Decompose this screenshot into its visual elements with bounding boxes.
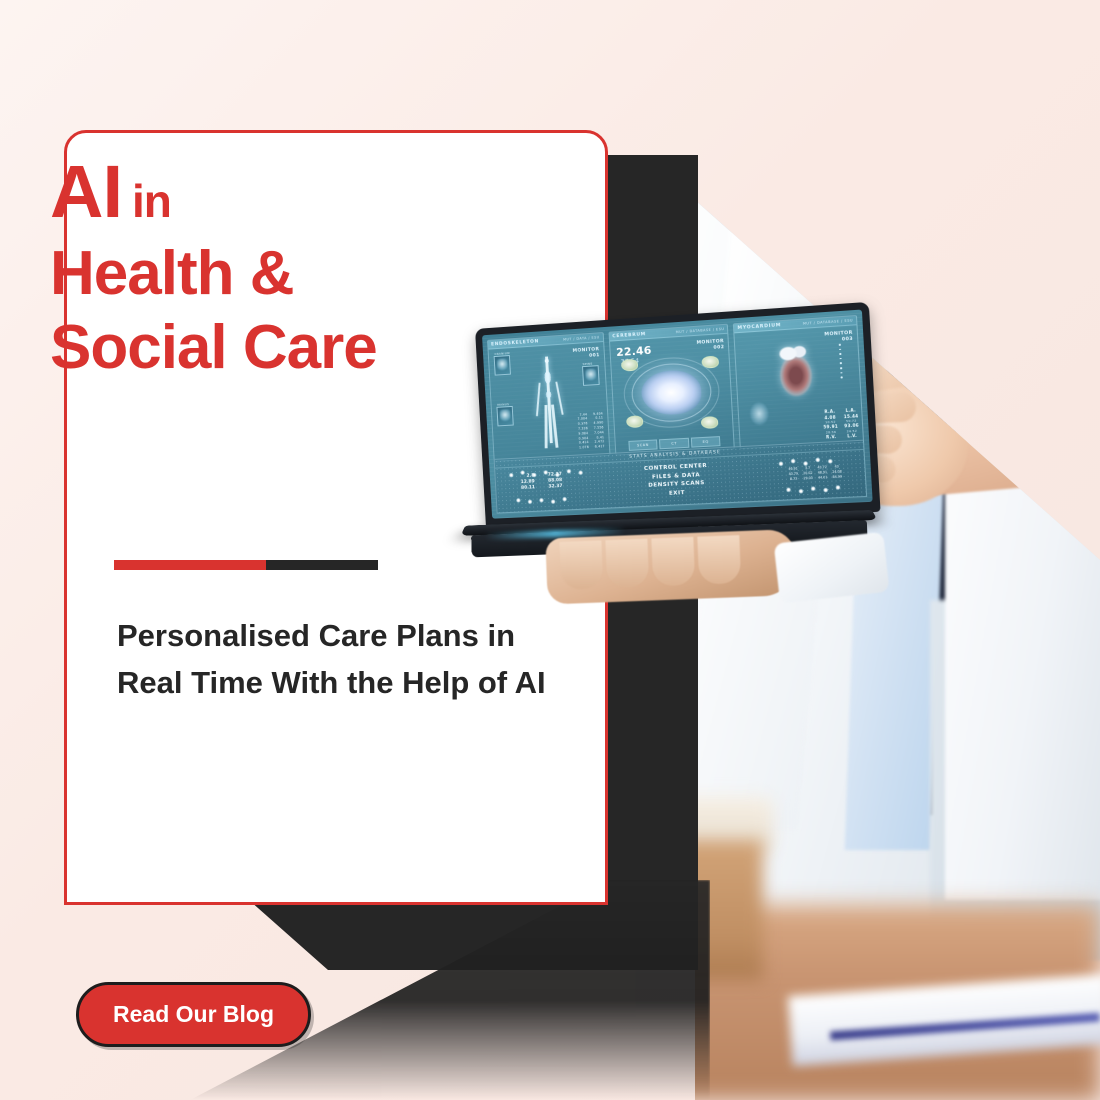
accent-divider [114,560,378,570]
headline-ai: AI [50,150,122,233]
panel-endoskeleton[interactable]: ENDOSKELETON MUT / DATA / ESU MONITOR 00… [487,332,610,462]
eq-button[interactable]: EQ [691,436,721,448]
scan-button[interactable]: SCAN [628,439,658,450]
read-our-blog-button[interactable]: Read Our Blog [76,982,311,1047]
screen-panel-row: ENDOSKELETON MUT / DATA / ESU MONITOR 00… [487,315,864,462]
holding-finger-3 [651,537,695,587]
headline-line-2: Health & [50,243,377,305]
brain-sample-2-icon [702,356,720,369]
headline-line-3: Social Care [50,317,377,379]
divider-red-segment [114,560,266,570]
panel-endoskeleton-stats: 7.449.404 7.0040.11 0.3764.990 7.3367.55… [577,411,605,450]
headline-in: in [132,175,171,227]
holding-finger-1 [559,540,603,590]
skull-icon [497,358,508,372]
panel-endoskeleton-subtitle: MUT / DATA / ESU [563,335,600,341]
lab-coat-cuff [774,532,890,604]
holding-finger-4 [697,535,741,585]
holding-finger-2 [605,539,649,589]
brain-sample-4-icon [701,416,719,429]
strip-menu: CONTROL CENTER FILES & DATA DENSITY SCAN… [644,462,709,500]
panel-cerebrum-title: CEREBRUM [612,332,646,339]
spine-icon [585,368,596,383]
hand-bones-icon [499,409,510,423]
myocardium-dot-scale [839,344,843,379]
heart-chamber-stats: R.A.L.A. 4.0815.44 10.5250.72 59.9193.06… [822,408,859,440]
panel-cerebrum[interactable]: CEREBRUM MUT / DATABASE / ESU 22.46 37.5… [608,324,735,456]
laptop-device: ENDOSKELETON MUT / DATA / ESU MONITOR 00… [447,308,877,594]
strip-left-numbers: 2.872.37 12.8988.08 80.1132.37 [520,472,562,491]
divider-dark-segment [266,560,378,570]
laptop-lid: ENDOSKELETON MUT / DATA / ESU MONITOR 00… [475,302,881,529]
panel-cerebrum-monitor: MONITOR 002 [696,339,724,352]
panel-cerebrum-subtitle: MUT / DATABASE / ESU [676,327,725,334]
laptop-screen: ENDOSKELETON MUT / DATA / ESU MONITOR 00… [482,310,873,519]
skeleton-legs-icon [537,404,565,451]
brain-sample-3-icon [626,415,643,428]
page-title: AIin Health & Social Care [50,155,377,379]
strip-right-numbers: 46.913.7 43.7243 40.7920.02 48.9124.08 8… [788,464,842,481]
panel-myocardium[interactable]: MYOCARDIUM MUT / DATABASE / ESU MONITOR … [733,315,864,449]
subtitle: Personalised Care Plans in Real Time Wit… [117,612,567,706]
thumbnail-hand[interactable]: MANUS [496,406,513,426]
ct-button[interactable]: CT [659,438,689,450]
thumbnail-spine[interactable]: SPINE [582,365,600,386]
thumbnail-cranium[interactable]: CRANIUM [494,355,511,376]
brain-sample-1-icon [621,359,638,372]
heart-scan-icon [769,341,819,403]
panel-endoskeleton-monitor: MONITOR 001 [573,347,600,360]
panel-myocardium-title: MYOCARDIUM [737,323,781,331]
panel-myocardium-subtitle: MUT / DATABASE / ESU [803,318,853,325]
poster-canvas: AIin Health & Social Care Personalised C… [0,0,1100,1100]
heart-ghost-icon [744,396,774,432]
panel-myocardium-monitor: MONITOR 003 [824,331,853,345]
panel-endoskeleton-title: ENDOSKELETON [491,339,539,347]
